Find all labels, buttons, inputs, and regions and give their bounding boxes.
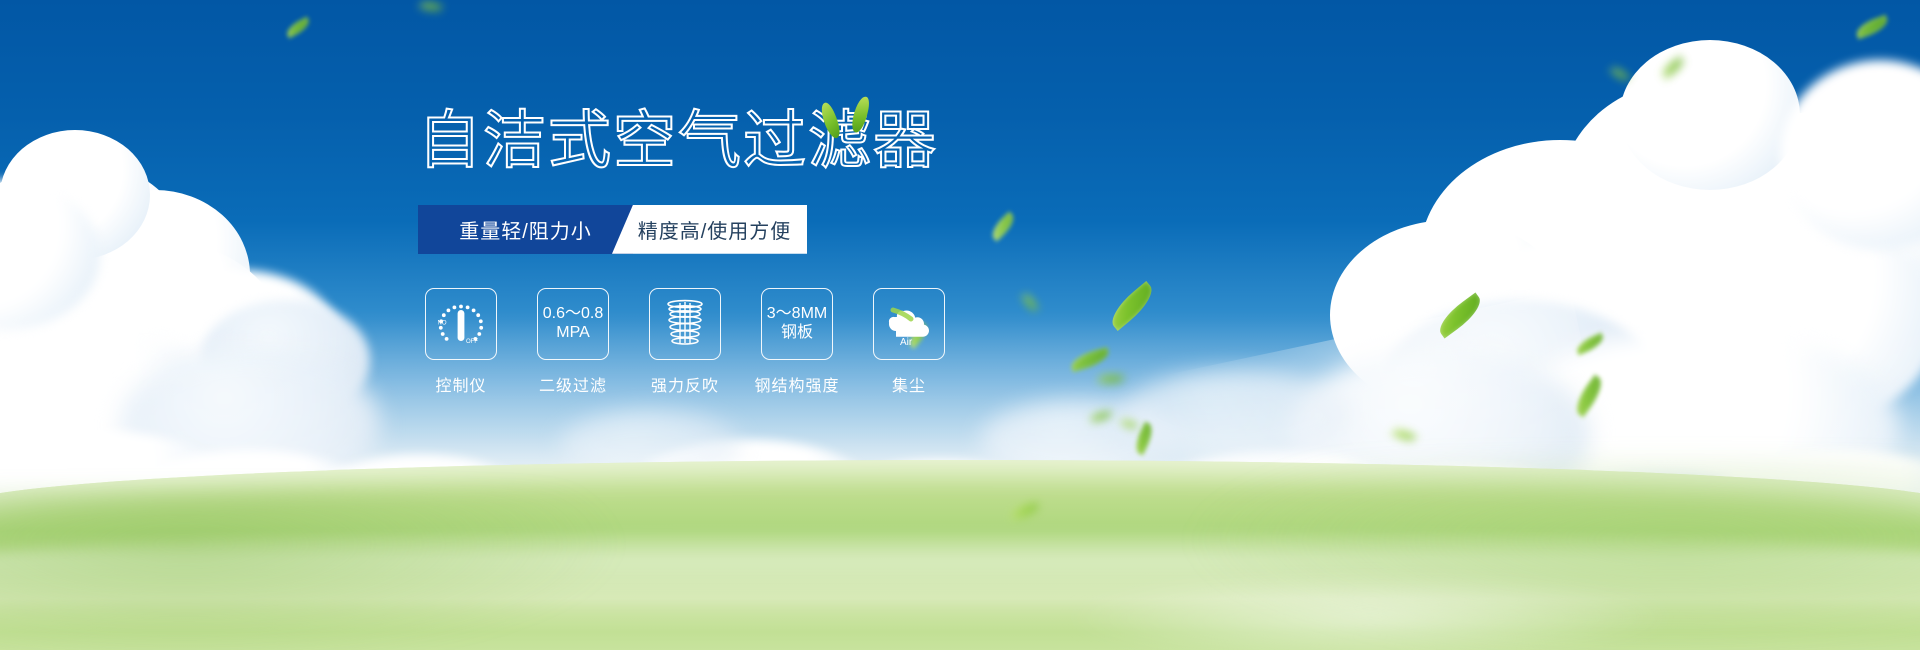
feature-caption: 集尘	[892, 372, 926, 396]
grass-highlight	[1060, 572, 1680, 650]
hero-banner: 自洁式空气过滤器 重量轻/阻力小 精度高/使用方便	[0, 0, 1920, 650]
feature-item-controller: NO OFF 控制仪	[418, 288, 504, 396]
leaf-icon	[1570, 374, 1608, 417]
leaf-icon	[1433, 293, 1486, 339]
grass-shade-left	[0, 490, 640, 650]
leaf-icon	[1391, 425, 1417, 445]
leaf-icon	[284, 17, 312, 39]
gauge-label-no: NO	[438, 320, 447, 326]
page-title: 自洁式空气过滤器	[418, 108, 1118, 175]
tagline-group: 重量轻/阻力小 精度高/使用方便	[418, 205, 807, 254]
tag-left-label: 重量轻/阻力小	[459, 215, 592, 244]
feature-item-two-stage-filter: 0.6～0.8 MPA 二级过滤	[530, 288, 616, 396]
feature-icon-box: 3～8MM 钢板	[761, 288, 833, 360]
title-sprout-leaves	[818, 94, 888, 140]
leaf-icon	[850, 95, 872, 134]
gauge-icon: NO OFF	[433, 296, 489, 352]
feature-icon-box: Air	[873, 288, 945, 360]
feature-icon-box: NO OFF	[425, 288, 497, 360]
feature-caption: 钢结构强度	[754, 372, 839, 396]
tag-precision-convenience: 精度高/使用方便	[612, 205, 807, 254]
feature-list: NO OFF 控制仪 0.6～0.8 MPA 二级过滤	[418, 288, 1118, 396]
leaf-icon	[1089, 411, 1112, 423]
grass-field	[0, 460, 1920, 650]
tag-right-label: 精度高/使用方便	[638, 215, 792, 244]
feature-icon-box: 0.6～0.8 MPA	[537, 288, 609, 360]
feature-item-steel-strength: 3～8MM 钢板 钢结构强度	[754, 288, 840, 396]
leaf-icon	[419, 0, 443, 14]
banner-content: 自洁式空气过滤器 重量轻/阻力小 精度高/使用方便	[418, 108, 1118, 396]
feature-item-strong-backblow: 强力反吹	[642, 288, 728, 396]
feature-caption: 控制仪	[435, 372, 486, 396]
feature-caption: 二级过滤	[539, 372, 607, 396]
leaf-icon	[1119, 416, 1139, 432]
feature-item-dust-collection: Air 集尘	[866, 288, 952, 396]
leaf-icon	[1610, 65, 1630, 84]
leaf-icon	[818, 101, 844, 140]
leaf-icon	[1574, 332, 1606, 355]
coil-filter-icon	[660, 297, 710, 351]
cloud-air-icon: Air	[880, 299, 938, 349]
cloud-air-label: Air	[900, 337, 913, 348]
leaf-icon	[1854, 15, 1891, 40]
feature-icon-box	[649, 288, 721, 360]
feature-caption: 强力反吹	[651, 372, 719, 396]
tag-weight-resistance: 重量轻/阻力小	[418, 205, 633, 254]
leaf-icon	[1659, 56, 1687, 80]
gauge-label-off: OFF	[466, 339, 478, 345]
